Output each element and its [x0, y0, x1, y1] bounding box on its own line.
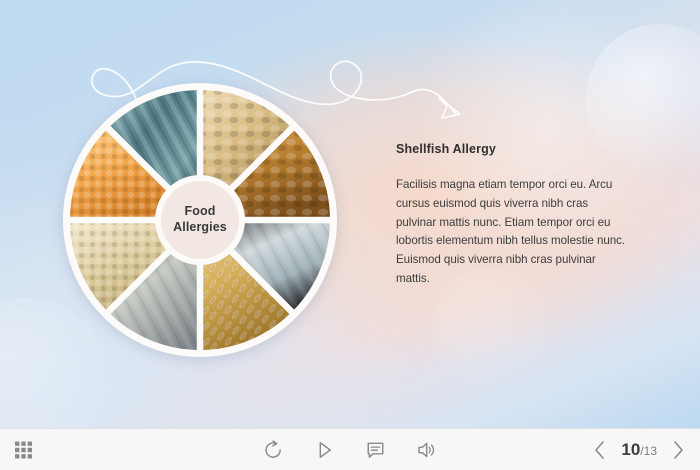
replay-icon: [263, 440, 284, 461]
course-player: Food Allergies Shellfish Allergy Facilis…: [0, 0, 700, 470]
prev-slide-button[interactable]: [592, 439, 608, 461]
notes-button[interactable]: [365, 440, 386, 461]
play-button[interactable]: [314, 440, 335, 461]
comment-icon: [365, 440, 386, 461]
chevron-right-icon: [670, 439, 686, 461]
page-indicator: 10/13: [621, 440, 657, 460]
food-allergy-wheel: Food Allergies: [62, 82, 338, 358]
panel-body-text: Facilisis magna etiam tempor orci eu. Ar…: [396, 176, 628, 289]
total-pages: 13: [644, 444, 657, 458]
replay-button[interactable]: [263, 440, 284, 461]
current-page: 10: [621, 440, 640, 460]
chevron-left-icon: [592, 439, 608, 461]
play-icon: [314, 440, 335, 461]
hub-label-line1: Food: [185, 204, 216, 218]
hub-label-line2: Allergies: [173, 220, 227, 234]
next-slide-button[interactable]: [670, 439, 686, 461]
slide-canvas: Food Allergies Shellfish Allergy Facilis…: [0, 0, 700, 428]
content-panel: Shellfish Allergy Facilisis magna etiam …: [396, 142, 628, 289]
panel-title: Shellfish Allergy: [396, 142, 628, 156]
volume-icon: [416, 440, 437, 461]
player-toolbar: 10/13: [0, 428, 700, 470]
volume-button[interactable]: [416, 440, 437, 461]
wheel-hub-label: Food Allergies: [161, 181, 239, 259]
